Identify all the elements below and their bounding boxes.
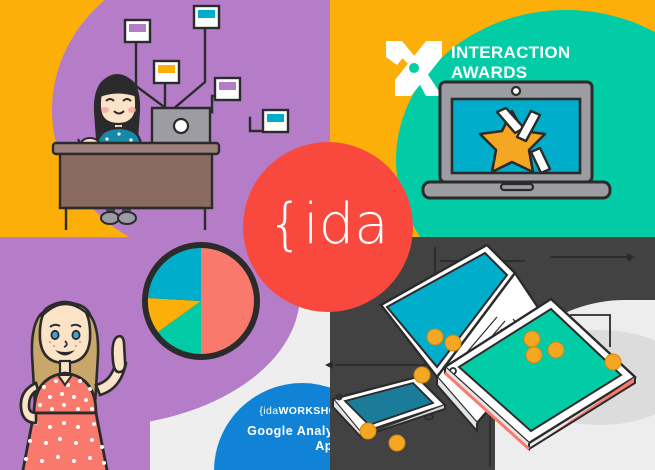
poster-canvas: INTERACTION AWARDS (0, 0, 655, 470)
person-pointing (21, 302, 126, 470)
ida-logo-badge: {ida (243, 142, 413, 312)
workshop-brand-prefix: {ida (259, 405, 278, 417)
ida-logo-text: {ida (267, 197, 388, 253)
laptop-icon (152, 108, 210, 146)
node-1 (125, 20, 150, 42)
node-5 (263, 110, 288, 132)
node-2 (194, 6, 219, 28)
pie-slice-b (148, 248, 201, 301)
node-3 (154, 61, 179, 83)
phone-device (333, 377, 445, 437)
pie-slices (148, 248, 254, 354)
award-laptop-illustration (409, 78, 624, 203)
pie-chart (142, 242, 260, 360)
node-4 (215, 78, 240, 100)
interaction-awards-title: INTERACTION AWARDS (451, 43, 570, 83)
awards-title-line1: INTERACTION (451, 43, 570, 63)
